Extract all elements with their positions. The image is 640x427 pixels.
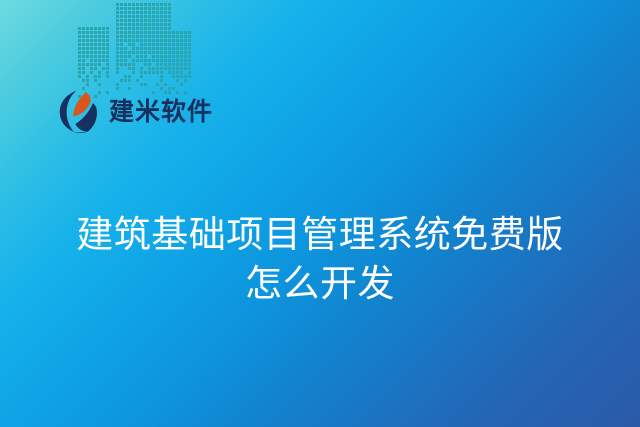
jianmi-logo-mark: [57, 88, 103, 134]
page-title-line-2: 怎么开发: [0, 260, 640, 309]
promo-banner: 建米软件 建筑基础项目管理系统免费版 怎么开发: [0, 0, 640, 427]
skyline-center-tower: [116, 3, 171, 98]
page-title: 建筑基础项目管理系统免费版 怎么开发: [0, 211, 640, 309]
page-title-line-1: 建筑基础项目管理系统免费版: [0, 211, 640, 260]
brand-name-text: 建米软件: [109, 99, 213, 124]
pixel-skyline-decoration: [78, 4, 190, 98]
brand-logo: 建米软件: [57, 88, 213, 134]
